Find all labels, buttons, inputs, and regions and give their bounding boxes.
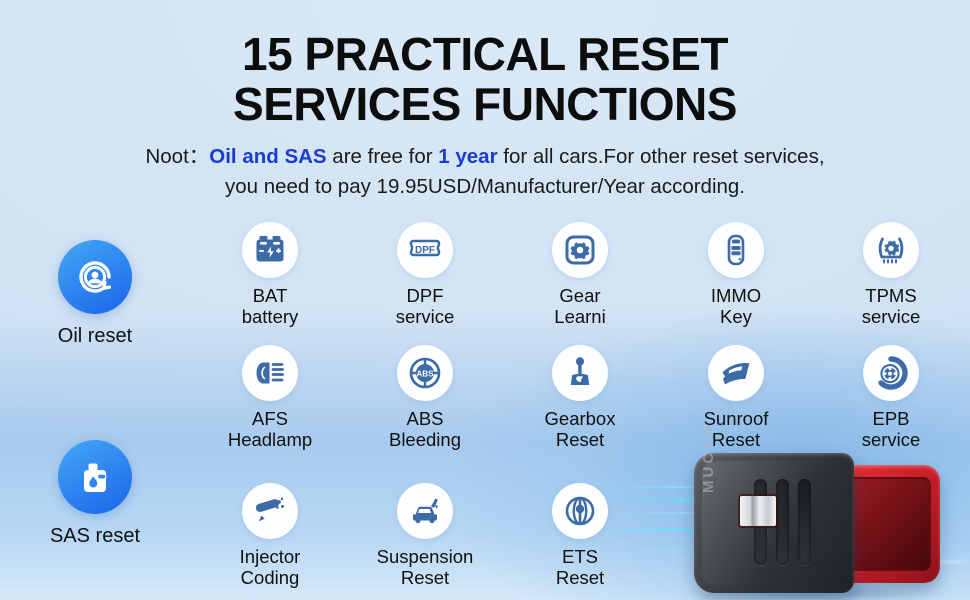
gear-badge <box>552 222 608 278</box>
service-label-immo-key: IMMO Key <box>678 285 794 328</box>
service-item-ets-reset[interactable]: ETS Reset <box>522 483 638 589</box>
label-line1: ABS <box>406 408 443 429</box>
subtitle-highlight-1-year: 1 year <box>438 145 497 168</box>
service-label-suspension-reset: Suspension Reset <box>367 546 483 589</box>
page-title: 15 PRACTICAL RESET SERVICES FUNCTIONS <box>0 30 970 129</box>
gear-shifter-icon <box>562 355 598 391</box>
tire-pressure-icon <box>873 232 909 268</box>
obd-device-image: MUCAR <box>694 449 956 600</box>
suspension-car-icon <box>407 493 443 529</box>
service-label-gear-learni: Gear Learni <box>522 285 638 328</box>
service-item-afs-headlamp[interactable]: AFS Headlamp <box>212 345 328 451</box>
oil-reset-badge <box>58 240 132 314</box>
label-line1: EPB <box>872 408 909 429</box>
battery-icon <box>252 232 288 268</box>
label-line2: Coding <box>212 567 328 588</box>
label-line1: Suspension <box>377 546 474 567</box>
service-label-afs-headlamp: AFS Headlamp <box>212 408 328 451</box>
label-line1: AFS <box>252 408 288 429</box>
label-line2: Key <box>678 306 794 327</box>
page-title-line1: 15 PRACTICAL RESET <box>242 28 728 80</box>
key-fob-icon <box>718 232 754 268</box>
label-line2: Reset <box>522 567 638 588</box>
key-fob-badge <box>708 222 764 278</box>
svg-text:ABS: ABS <box>416 369 434 378</box>
subtitle-highlight-oil-sas: Oil and SAS <box>209 145 326 168</box>
injector-icon <box>252 493 288 529</box>
gear-shifter-badge <box>552 345 608 401</box>
sunroof-icon <box>718 355 754 391</box>
dpf-badge: DPF <box>397 222 453 278</box>
sunroof-badge <box>708 345 764 401</box>
label-line1: ETS <box>562 546 598 567</box>
service-item-abs-bleeding[interactable]: ABS ABS Bleeding <box>367 345 483 451</box>
service-item-immo-key[interactable]: IMMO Key <box>678 222 794 328</box>
service-item-gear-learni[interactable]: Gear Learni <box>522 222 638 328</box>
label-line2: Reset <box>367 567 483 588</box>
battery-badge <box>242 222 298 278</box>
service-label-gearbox-reset: Gearbox Reset <box>522 408 638 451</box>
service-item-suspension-reset[interactable]: Suspension Reset <box>367 483 483 589</box>
service-item-oil-reset[interactable]: Oil reset <box>10 240 180 348</box>
headlamp-badge <box>242 345 298 401</box>
label-line2: Learni <box>522 306 638 327</box>
device-vent-slot <box>798 479 811 565</box>
headlamp-icon <box>252 355 288 391</box>
subtitle-prefix: Noot： <box>145 145 209 168</box>
device-vent-slot <box>776 479 789 565</box>
label-line1: TPMS <box>865 285 916 306</box>
subtitle-mid2: for all cars.For other reset services, <box>498 145 825 168</box>
sas-reset-badge <box>58 440 132 514</box>
suspension-car-badge <box>397 483 453 539</box>
service-label-sunroof-reset: Sunroof Reset <box>678 408 794 451</box>
device-connector-pins <box>740 496 776 526</box>
label-line2: service <box>833 429 949 450</box>
service-item-sunroof-reset[interactable]: Sunroof Reset <box>678 345 794 451</box>
service-label-bat-battery: BAT battery <box>212 285 328 328</box>
label-line2: Bleeding <box>367 429 483 450</box>
service-label-epb-service: EPB service <box>833 408 949 451</box>
dpf-icon: DPF <box>407 232 443 268</box>
service-item-sas-reset[interactable]: SAS reset <box>10 440 180 548</box>
label-line1: Injector <box>240 546 301 567</box>
tire-pressure-badge <box>863 222 919 278</box>
service-item-bat-battery[interactable]: BAT battery <box>212 222 328 328</box>
label-line1: Gearbox <box>545 408 616 429</box>
service-label-dpf-service: DPF service <box>367 285 483 328</box>
label-line2: service <box>367 306 483 327</box>
abs-badge: ABS <box>397 345 453 401</box>
page-title-line2: SERVICES FUNCTIONS <box>0 80 970 130</box>
label-line1: DPF <box>407 285 444 306</box>
subtitle-mid1: are free for <box>327 145 439 168</box>
service-item-gearbox-reset[interactable]: Gearbox Reset <box>522 345 638 451</box>
gear-icon <box>562 232 598 268</box>
service-item-tpms-service[interactable]: TPMS service <box>833 222 949 328</box>
ets-icon <box>562 493 598 529</box>
service-label-sas-reset: SAS reset <box>10 525 180 548</box>
label-line1: IMMO <box>711 285 761 306</box>
service-item-injector-coding[interactable]: Injector Coding <box>212 483 328 589</box>
service-item-epb-service[interactable]: EPB service <box>833 345 949 451</box>
oil-reset-icon <box>71 253 119 301</box>
label-line2: Reset <box>522 429 638 450</box>
ets-badge <box>552 483 608 539</box>
page-subtitle: Noot：Oil and SAS are free for 1 year for… <box>60 142 910 201</box>
brake-disc-badge <box>863 345 919 401</box>
label-line1: Gear <box>559 285 600 306</box>
device-brand-label: MUCAR <box>700 423 717 493</box>
abs-icon: ABS <box>407 355 443 391</box>
service-item-dpf-service[interactable]: DPF DPF service <box>367 222 483 328</box>
service-label-abs-bleeding: ABS Bleeding <box>367 408 483 451</box>
label-line2: service <box>833 306 949 327</box>
svg-text:DPF: DPF <box>415 245 435 256</box>
injector-badge <box>242 483 298 539</box>
service-label-ets-reset: ETS Reset <box>522 546 638 589</box>
label-line1: BAT <box>253 285 288 306</box>
label-line2: battery <box>212 306 328 327</box>
sas-reset-icon <box>71 453 119 501</box>
label-line2: Headlamp <box>212 429 328 450</box>
service-label-oil-reset: Oil reset <box>10 325 180 348</box>
service-label-injector-coding: Injector Coding <box>212 546 328 589</box>
service-label-tpms-service: TPMS service <box>833 285 949 328</box>
label-line2: Reset <box>678 429 794 450</box>
subtitle-line2: you need to pay 19.95USD/Manufacturer/Ye… <box>60 172 910 202</box>
brake-disc-icon <box>873 355 909 391</box>
